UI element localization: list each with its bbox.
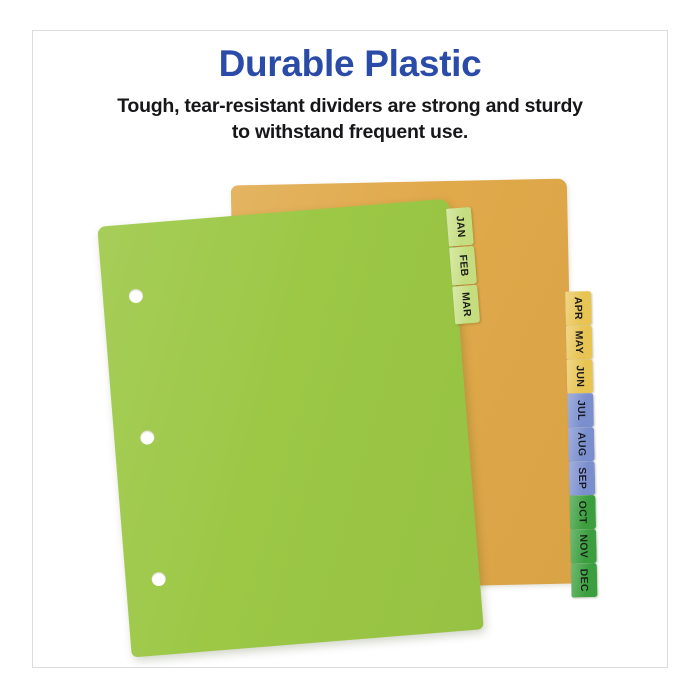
divider-tab-oct[interactable]: OCT: [569, 495, 596, 530]
product-photo: APR MAY JUN JUL AUG SEP OCT NOV: [32, 150, 668, 668]
divider-tab-jul[interactable]: JUL: [567, 393, 594, 428]
tab-label: MAY: [573, 331, 585, 355]
divider-tab-may[interactable]: MAY: [566, 325, 593, 360]
divider-tab-jan[interactable]: JAN: [446, 207, 474, 247]
tab-label: DEC: [578, 569, 590, 592]
tab-label: JUL: [574, 400, 586, 421]
tab-column-jan-mar: JAN FEB MAR: [97, 199, 484, 658]
divider-tab-mar[interactable]: MAR: [452, 285, 480, 325]
subtitle-line-1: Tough, tear-resistant dividers are stron…: [117, 95, 583, 117]
divider-tab-feb[interactable]: FEB: [449, 246, 477, 286]
divider-tab-apr[interactable]: APR: [565, 291, 592, 326]
divider-tab-nov[interactable]: NOV: [570, 529, 597, 564]
tab-label: APR: [572, 297, 584, 320]
tab-label: MAR: [459, 292, 473, 318]
tab-label: AUG: [575, 432, 588, 456]
product-feature-image: Durable Plastic Tough, tear-resistant di…: [0, 0, 700, 700]
tab-label: NOV: [577, 534, 589, 558]
divider-tab-sep[interactable]: SEP: [569, 461, 596, 496]
marketing-copy-block: Durable Plastic Tough, tear-resistant di…: [32, 44, 668, 145]
subtitle: Tough, tear-resistant dividers are stron…: [32, 93, 668, 145]
divider-tab-dec[interactable]: DEC: [571, 563, 598, 598]
tab-label: FEB: [456, 254, 470, 277]
divider-tab-aug[interactable]: AUG: [568, 427, 595, 462]
subtitle-line-2: to withstand frequent use.: [32, 119, 668, 145]
tab-label: JAN: [453, 215, 467, 238]
page-title: Durable Plastic: [32, 44, 668, 84]
divider-tab-jun[interactable]: JUN: [567, 359, 594, 394]
tab-label: SEP: [576, 467, 588, 489]
tab-label: JUN: [574, 365, 586, 387]
tab-label: OCT: [576, 501, 588, 524]
